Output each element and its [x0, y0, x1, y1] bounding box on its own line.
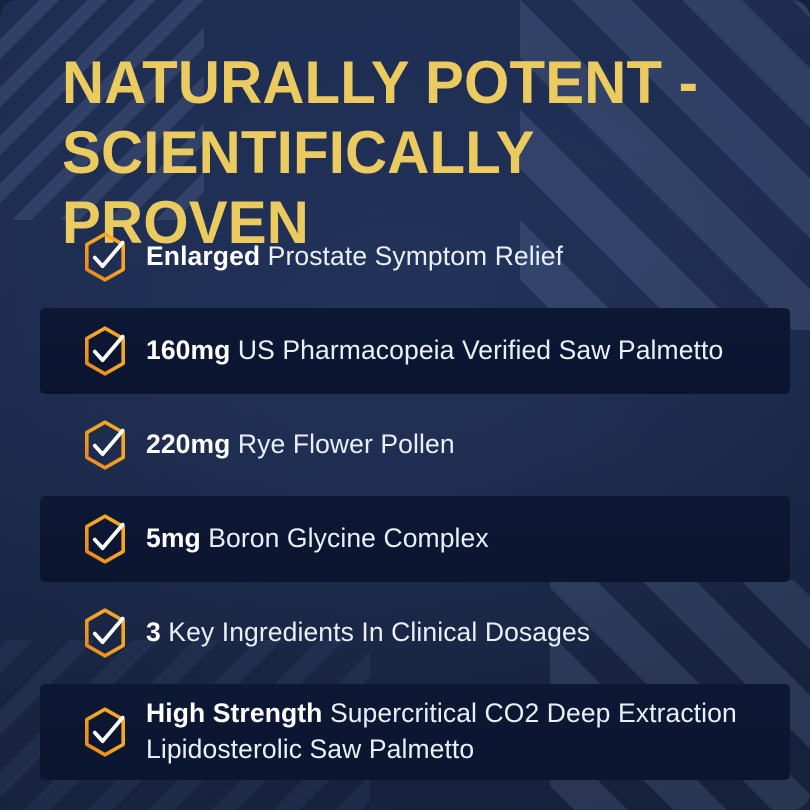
- benefit-row: 220mg Rye Flower Pollen: [20, 398, 790, 492]
- hexagon-check-icon: [78, 512, 132, 566]
- benefit-lead: 160mg: [146, 335, 230, 365]
- benefit-rest: Rye Flower Pollen: [230, 429, 454, 459]
- hexagon-check-icon: [78, 705, 132, 759]
- benefit-list: Enlarged Prostate Symptom Relief 160mg U…: [0, 210, 810, 784]
- benefit-text: 3 Key Ingredients In Clinical Dosages: [146, 615, 590, 651]
- benefit-row: 5mg Boron Glycine Complex: [20, 492, 790, 586]
- benefit-text: High Strength Supercritical CO2 Deep Ext…: [146, 696, 790, 768]
- benefit-row: 160mg US Pharmacopeia Verified Saw Palme…: [20, 304, 790, 398]
- hexagon-check-icon: [78, 418, 132, 472]
- benefit-rest: Boron Glycine Complex: [201, 523, 489, 553]
- hexagon-check-icon: [78, 230, 132, 284]
- benefit-rest: Prostate Symptom Relief: [260, 241, 563, 271]
- benefit-lead: 3: [146, 617, 161, 647]
- benefit-text: 5mg Boron Glycine Complex: [146, 521, 489, 557]
- poster-content: NATURALLY POTENT - SCIENTIFICALLY PROVEN…: [0, 0, 810, 810]
- benefit-lead: Enlarged: [146, 241, 260, 271]
- hexagon-check-icon: [78, 606, 132, 660]
- benefit-lead: 5mg: [146, 523, 201, 553]
- benefit-row: High Strength Supercritical CO2 Deep Ext…: [20, 680, 790, 784]
- benefit-lead: High Strength: [146, 698, 322, 728]
- benefit-row: 3 Key Ingredients In Clinical Dosages: [20, 586, 790, 680]
- promotional-poster: NATURALLY POTENT - SCIENTIFICALLY PROVEN…: [0, 0, 810, 810]
- benefit-text: Enlarged Prostate Symptom Relief: [146, 239, 563, 275]
- benefit-lead: 220mg: [146, 429, 230, 459]
- benefit-row: Enlarged Prostate Symptom Relief: [20, 210, 790, 304]
- benefit-rest: Key Ingredients In Clinical Dosages: [161, 617, 590, 647]
- benefit-rest: US Pharmacopeia Verified Saw Palmetto: [230, 335, 723, 365]
- benefit-text: 220mg Rye Flower Pollen: [146, 427, 455, 463]
- hexagon-check-icon: [78, 324, 132, 378]
- benefit-text: 160mg US Pharmacopeia Verified Saw Palme…: [146, 333, 723, 369]
